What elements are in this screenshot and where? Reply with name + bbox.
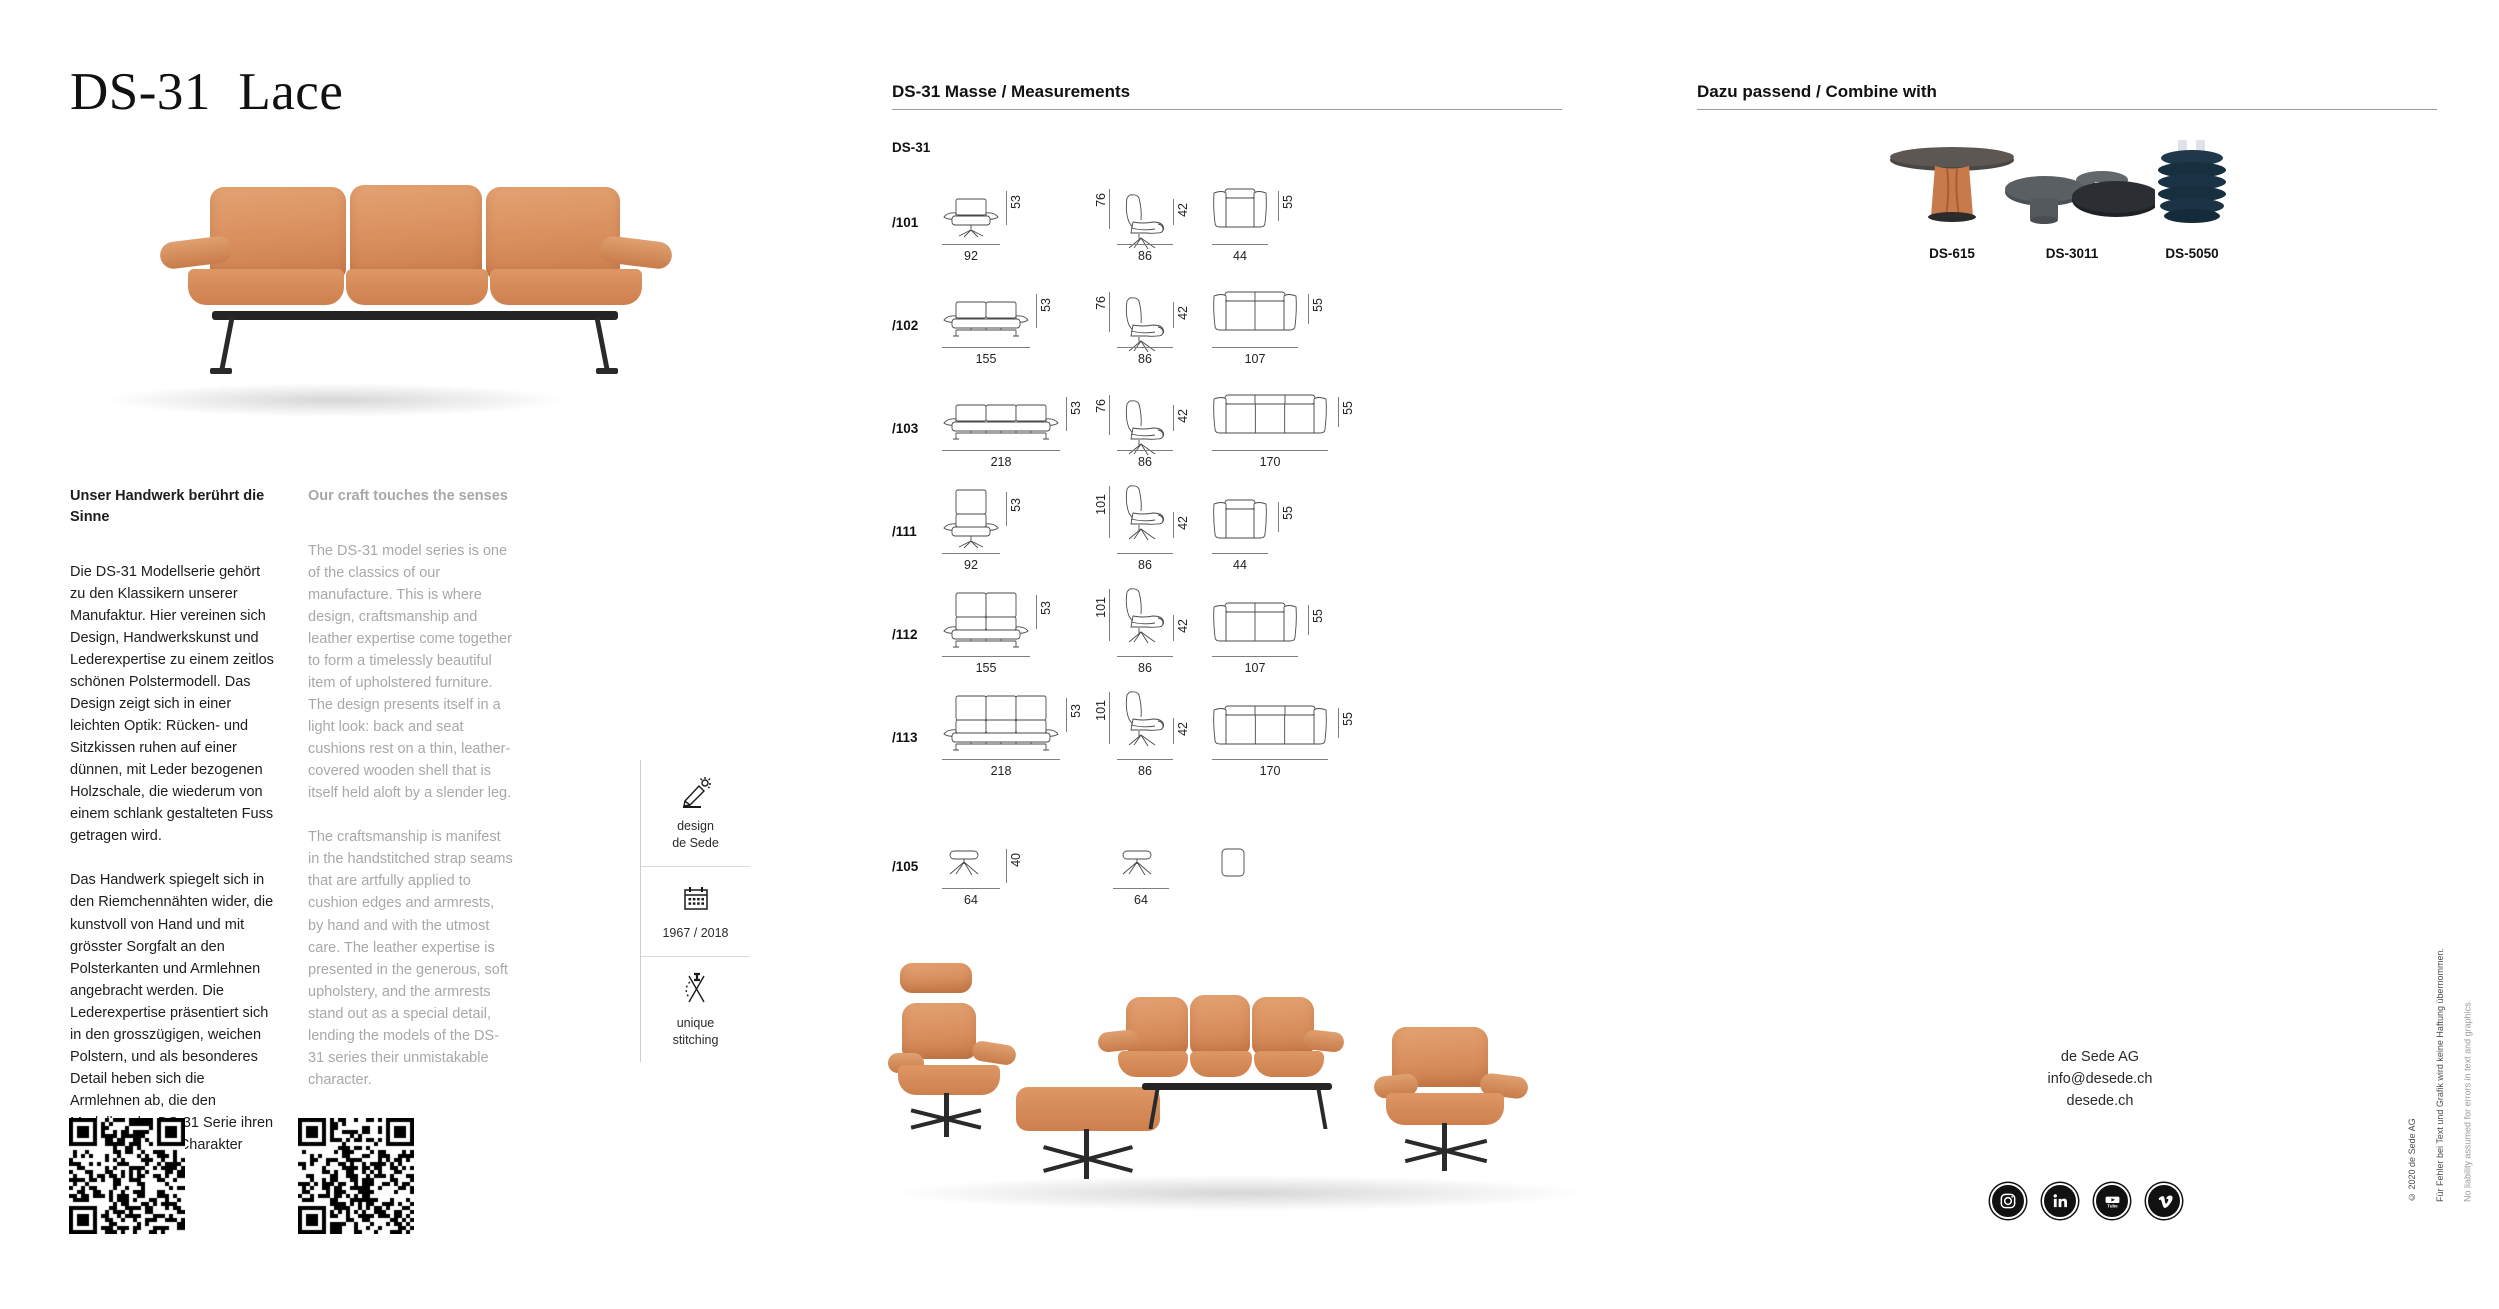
english-paragraph-2: The craftsmanship is manifest in the han… [308, 826, 513, 1090]
measurement-row: /111 53 92 101 42 86 [892, 482, 1592, 585]
side-seat-height-dim: 42 [1177, 409, 1190, 423]
page-title: DS-31 Lace [70, 62, 343, 122]
design-pencil-icon [641, 772, 750, 812]
youtube-icon[interactable]: Tube [2094, 1183, 2130, 1219]
front-view: 40 64 [942, 817, 1040, 917]
combine-item-label: DS-5050 [2092, 246, 2292, 261]
side-seat-height-dim: 42 [1177, 722, 1190, 736]
side-height-dim: 76 [1095, 296, 1108, 310]
top-width-dim: 170 [1212, 764, 1328, 778]
side-height-dim: 101 [1095, 597, 1108, 618]
side-height-dim: 76 [1095, 399, 1108, 413]
combine-item[interactable]: DS-5050 [2092, 140, 2292, 261]
measurement-row: /103 53 218 76 42 86 [892, 379, 1592, 482]
front-height-dim: 53 [1010, 498, 1023, 512]
vimeo-icon[interactable] [2146, 1183, 2182, 1219]
top-depth-dim: 55 [1282, 195, 1295, 209]
front-view: 53 92 [942, 482, 1040, 582]
side-height-dim: 101 [1095, 494, 1108, 515]
front-view: 53 155 [942, 276, 1070, 376]
stacked-stool-icon [2092, 140, 2292, 230]
top-depth-dim: 55 [1342, 401, 1355, 415]
calendar-icon [641, 879, 750, 919]
group-product-image [880, 935, 1600, 1225]
side-seat-height-dim: 42 [1177, 306, 1190, 320]
description-german: Unser Handwerk berührt die Sinne Die DS-… [70, 486, 275, 1178]
combine-items: DS-615 DS-3011 DS-5050 [1697, 140, 2442, 270]
top-width-dim: 44 [1212, 249, 1268, 263]
linkedin-icon[interactable] [2042, 1183, 2078, 1219]
top-view: 55 170 [1212, 688, 1372, 788]
measurement-row: /113 53 218 101 42 86 [892, 688, 1592, 791]
side-height-dim: 101 [1095, 700, 1108, 721]
stitching-needle-icon [641, 969, 750, 1009]
top-depth-dim: 55 [1282, 506, 1295, 520]
side-depth-dim: 86 [1117, 455, 1173, 469]
svg-text:Tube: Tube [2107, 1203, 2118, 1208]
model-code: /103 [892, 421, 918, 436]
social-links: Tube [1990, 1183, 2182, 1219]
feature-stitching-label: unique stitching [641, 1015, 750, 1049]
contact-website[interactable]: desede.ch [1950, 1091, 2250, 1113]
german-heading: Unser Handwerk berührt die Sinne [70, 486, 275, 528]
qr-code-german[interactable] [69, 1118, 185, 1234]
top-view: 55 44 [1212, 173, 1312, 273]
model-code: /102 [892, 318, 918, 333]
side-depth-dim: 86 [1117, 352, 1173, 366]
combine-section-header: Dazu passend / Combine with [1697, 82, 2437, 110]
model-code: /105 [892, 859, 918, 874]
front-height-dim: 53 [1040, 298, 1053, 312]
side-view: 101 42 86 [1107, 482, 1207, 582]
side-seat-height-dim: 42 [1177, 619, 1190, 633]
front-height-dim: 53 [1070, 401, 1083, 415]
side-depth-dim: 86 [1117, 249, 1173, 263]
feature-list: design de Sede 1967 / 2018 [640, 760, 750, 1062]
side-seat-height-dim: 42 [1177, 516, 1190, 530]
feature-design: design de Sede [641, 760, 750, 866]
side-height-dim: 76 [1095, 193, 1108, 207]
copyright-line-1: © 2020 de Sede AG [2407, 1118, 2417, 1202]
measurements-section-header: DS-31 Masse / Measurements [892, 82, 1562, 110]
top-view: 55 44 [1212, 482, 1312, 582]
side-seat-height-dim: 42 [1177, 203, 1190, 217]
top-width-dim: 170 [1212, 455, 1328, 469]
side-view: 101 42 86 [1107, 688, 1207, 788]
measurement-row: /105 40 64 64 [892, 817, 1592, 920]
side-view: 76 42 86 [1107, 379, 1207, 479]
front-view: 53 218 [942, 688, 1100, 788]
english-heading: Our craft touches the senses [308, 486, 513, 507]
instagram-icon[interactable] [1990, 1183, 2026, 1219]
top-view: 55 107 [1212, 585, 1342, 685]
front-width-dim: 64 [942, 893, 1000, 907]
contact-block: de Sede AG info@desede.ch desede.ch [1950, 1047, 2250, 1112]
front-width-dim: 218 [942, 764, 1060, 778]
measurements-table: DS-31 /101 53 92 76 42 86 [892, 140, 1592, 920]
measurement-row: /112 53 155 101 42 86 [892, 585, 1592, 688]
front-height-dim: 40 [1010, 853, 1023, 867]
feature-year: 1967 / 2018 [641, 866, 750, 956]
side-depth-dim: 86 [1117, 558, 1173, 572]
sofa-illustration [60, 165, 620, 425]
copyright-line-3: No liability assumed for errors in text … [2463, 1000, 2473, 1202]
top-depth-dim: 55 [1312, 609, 1325, 623]
side-view: 76 42 86 [1107, 173, 1207, 273]
side-view: 64 [1107, 817, 1207, 917]
front-height-dim: 53 [1040, 601, 1053, 615]
front-view: 53 155 [942, 585, 1070, 685]
front-width-dim: 155 [942, 661, 1030, 675]
hero-product-image [60, 165, 620, 425]
top-width-dim: 44 [1212, 558, 1268, 572]
measurement-row: /102 53 155 76 42 86 [892, 276, 1592, 379]
front-width-dim: 218 [942, 455, 1060, 469]
front-width-dim: 92 [942, 249, 1000, 263]
datasheet-page: DS-31 Lace Unser Handwerk berührt die [0, 0, 2499, 1309]
english-paragraph-1: The DS-31 model series is one of the cla… [308, 540, 513, 804]
description-english: Our craft touches the senses The DS-31 m… [308, 486, 513, 1091]
front-width-dim: 155 [942, 352, 1030, 366]
front-width-dim: 92 [942, 558, 1000, 572]
front-view: 53 218 [942, 379, 1100, 479]
front-view: 53 92 [942, 173, 1040, 273]
front-height-dim: 53 [1010, 195, 1023, 209]
feature-stitching: unique stitching [641, 956, 750, 1063]
qr-code-english[interactable] [298, 1118, 414, 1234]
company-name: de Sede AG [1950, 1047, 2250, 1069]
model-code: /112 [892, 627, 918, 642]
qr-code-canvas [298, 1118, 414, 1234]
top-depth-dim: 55 [1342, 712, 1355, 726]
top-view: 55 170 [1212, 379, 1372, 479]
feature-year-label: 1967 / 2018 [641, 925, 750, 942]
top-view [1212, 817, 1292, 917]
front-height-dim: 53 [1070, 704, 1083, 718]
qr-code-canvas [69, 1118, 185, 1234]
top-depth-dim: 55 [1312, 298, 1325, 312]
top-width-dim: 107 [1212, 352, 1298, 366]
side-view: 101 42 86 [1107, 585, 1207, 685]
copyright-notice: © 2020 de Sede AG Für Fehler bei Text un… [2392, 948, 2476, 1202]
top-view: 55 107 [1212, 276, 1342, 376]
measurements-group-title: DS-31 [892, 140, 1592, 155]
side-depth-dim: 86 [1117, 661, 1173, 675]
german-paragraph-1: Die DS-31 Modellserie gehört zu den Klas… [70, 561, 275, 847]
model-code: /111 [892, 524, 917, 539]
feature-design-label: design de Sede [641, 818, 750, 852]
model-code: /113 [892, 730, 918, 745]
measurement-row: /101 53 92 76 42 86 [892, 173, 1592, 276]
top-width-dim: 107 [1212, 661, 1298, 675]
side-view: 76 42 86 [1107, 276, 1207, 376]
side-depth-dim: 64 [1113, 893, 1169, 907]
copyright-line-2: Für Fehler bei Text und Grafik wird kein… [2435, 948, 2445, 1202]
model-code: /101 [892, 215, 918, 230]
side-depth-dim: 86 [1117, 764, 1173, 778]
contact-email[interactable]: info@desede.ch [1950, 1069, 2250, 1091]
